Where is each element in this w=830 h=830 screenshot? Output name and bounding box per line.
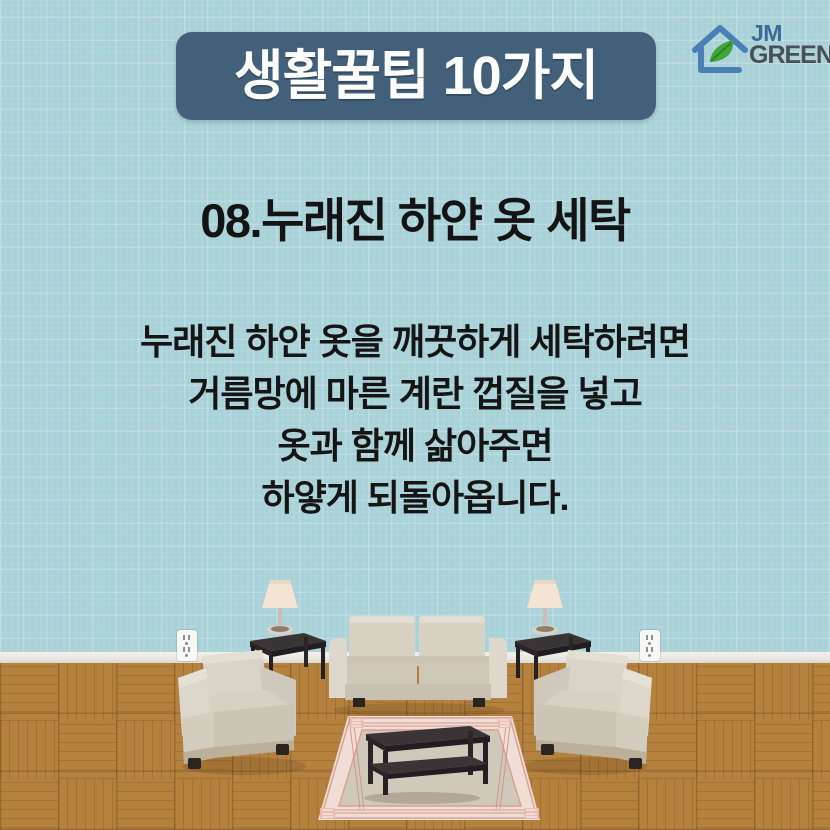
left-table-lamp — [258, 578, 310, 638]
house-leaf-icon — [689, 20, 751, 76]
body-line-1: 누래진 하얀 옷을 깨끗하게 세탁하려면 — [0, 316, 830, 368]
center-sofa — [327, 612, 509, 716]
tip-card: 생활꿀팁 10가지 JM GREEN 08.누래진 하얀 옷 세탁 누래진 하얀… — [0, 0, 830, 830]
right-table-lamp — [523, 578, 575, 638]
body-line-4: 하얗게 되돌아옵니다. — [0, 472, 830, 524]
logo-wordmark: JM GREEN — [749, 22, 815, 76]
tip-body: 누래진 하얀 옷을 깨끗하게 세탁하려면 거름망에 마른 계란 껍질을 넣고 옷… — [0, 316, 830, 524]
logo-text-green: GREEN — [749, 43, 830, 68]
coffee-table — [352, 722, 492, 804]
body-line-3: 옷과 함께 삶아주면 — [0, 420, 830, 472]
body-line-2: 거름망에 마른 계란 껍질을 넣고 — [0, 368, 830, 420]
left-armchair — [172, 640, 312, 780]
tip-heading: 08.누래진 하얀 옷 세탁 — [0, 196, 830, 245]
banner-title: 생활꿀팁 10가지 — [234, 49, 598, 103]
title-banner: 생활꿀팁 10가지 — [176, 32, 656, 120]
brand-logo: JM GREEN — [689, 18, 815, 80]
